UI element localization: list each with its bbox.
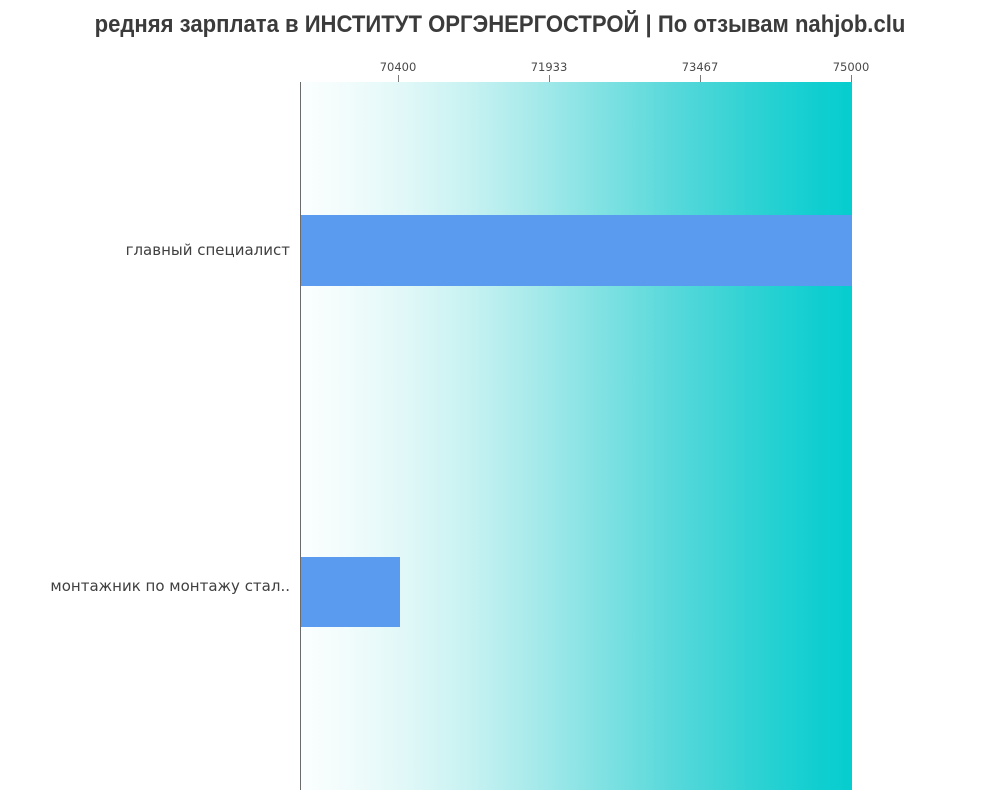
xtick-label-2: 73467 (682, 60, 719, 74)
bar-montazhnik-po-montazhu-stal[interactable] (301, 557, 400, 627)
xtick-mark-2 (700, 75, 701, 82)
xtick-mark-0 (398, 75, 399, 82)
plot-area (300, 82, 852, 790)
xtick-mark-3 (851, 75, 852, 82)
ytick-label-glavnyj-specialist: главный специалист (126, 241, 290, 259)
xtick-label-3: 75000 (833, 60, 870, 74)
page-title: редняя зарплата в ИНСТИТУТ ОРГЭНЕРГОСТРО… (40, 8, 960, 42)
xtick-mark-1 (549, 75, 550, 82)
bar-glavnyj-specialist[interactable] (301, 215, 852, 286)
xtick-label-0: 70400 (380, 60, 417, 74)
xtick-label-1: 71933 (531, 60, 568, 74)
ytick-label-montazhnik: монтажник по монтажу стал.. (50, 577, 290, 595)
